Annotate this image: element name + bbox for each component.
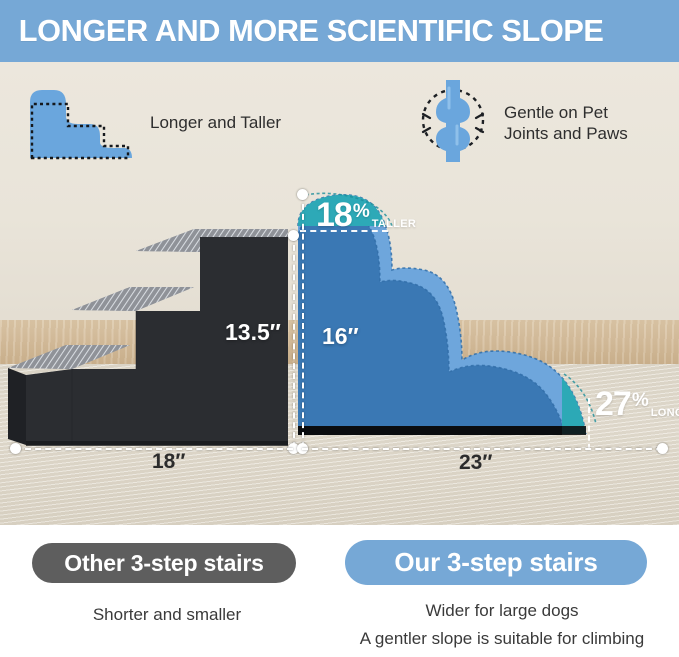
guide-node-our-right <box>657 443 668 454</box>
our-pill: Our 3-step stairs <box>345 540 647 585</box>
badge-longer-percent: % <box>632 391 649 421</box>
infographic-page: LONGER AND MORE SCIENTIFIC SLOPE Longer … <box>0 0 679 657</box>
our-caption: Wider for large dogs A gentler slope is … <box>352 597 652 653</box>
competitor-caption: Shorter and smaller <box>60 601 274 629</box>
guide-node-competitor-top <box>288 230 299 241</box>
badge-longer-number: 27 <box>595 387 631 421</box>
our-caption-line-2: A gentler slope is suitable for climbing <box>352 625 652 653</box>
guide-node-competitor-left <box>10 443 21 454</box>
product-scene: Longer and Taller Gentle on Pet Joints a… <box>0 62 679 525</box>
competitor-pill: Other 3-step stairs <box>32 543 296 583</box>
guide-node-our-top <box>297 189 308 200</box>
feature-longer-and-taller: Longer and Taller <box>24 80 281 165</box>
our-width-label: 23″ <box>459 451 492 475</box>
longer-section-divider <box>588 398 590 450</box>
feature-label-gentle-on-joints: Gentle on Pet Joints and Paws <box>504 102 628 144</box>
our-height-guide <box>302 194 304 448</box>
competitor-width-label: 18″ <box>152 450 185 474</box>
competitor-height-label: 13.5″ <box>225 319 281 346</box>
feature-gentle-on-joints: Gentle on Pet Joints and Paws <box>416 78 628 167</box>
badge-27-percent-longer: 27 % LONGER <box>595 387 679 421</box>
stairs-slope-icon <box>24 80 136 165</box>
our-caption-line-1: Wider for large dogs <box>425 601 578 620</box>
competitor-height-guide <box>293 235 295 448</box>
badge-longer-word: LONGER <box>651 408 679 421</box>
badge-18-percent-taller: 18 % TALLER <box>316 198 416 232</box>
feature-label-longer-and-taller: Longer and Taller <box>150 112 281 133</box>
badge-taller-number: 18 <box>316 198 352 232</box>
header-banner: LONGER AND MORE SCIENTIFIC SLOPE <box>0 0 679 62</box>
badge-taller-percent: % <box>353 202 370 232</box>
taller-band-divider <box>300 230 388 232</box>
page-title: LONGER AND MORE SCIENTIFIC SLOPE <box>0 13 603 49</box>
our-height-label: 16″ <box>322 323 359 350</box>
pet-joint-bone-icon <box>416 78 490 167</box>
our-width-guide <box>302 448 662 450</box>
